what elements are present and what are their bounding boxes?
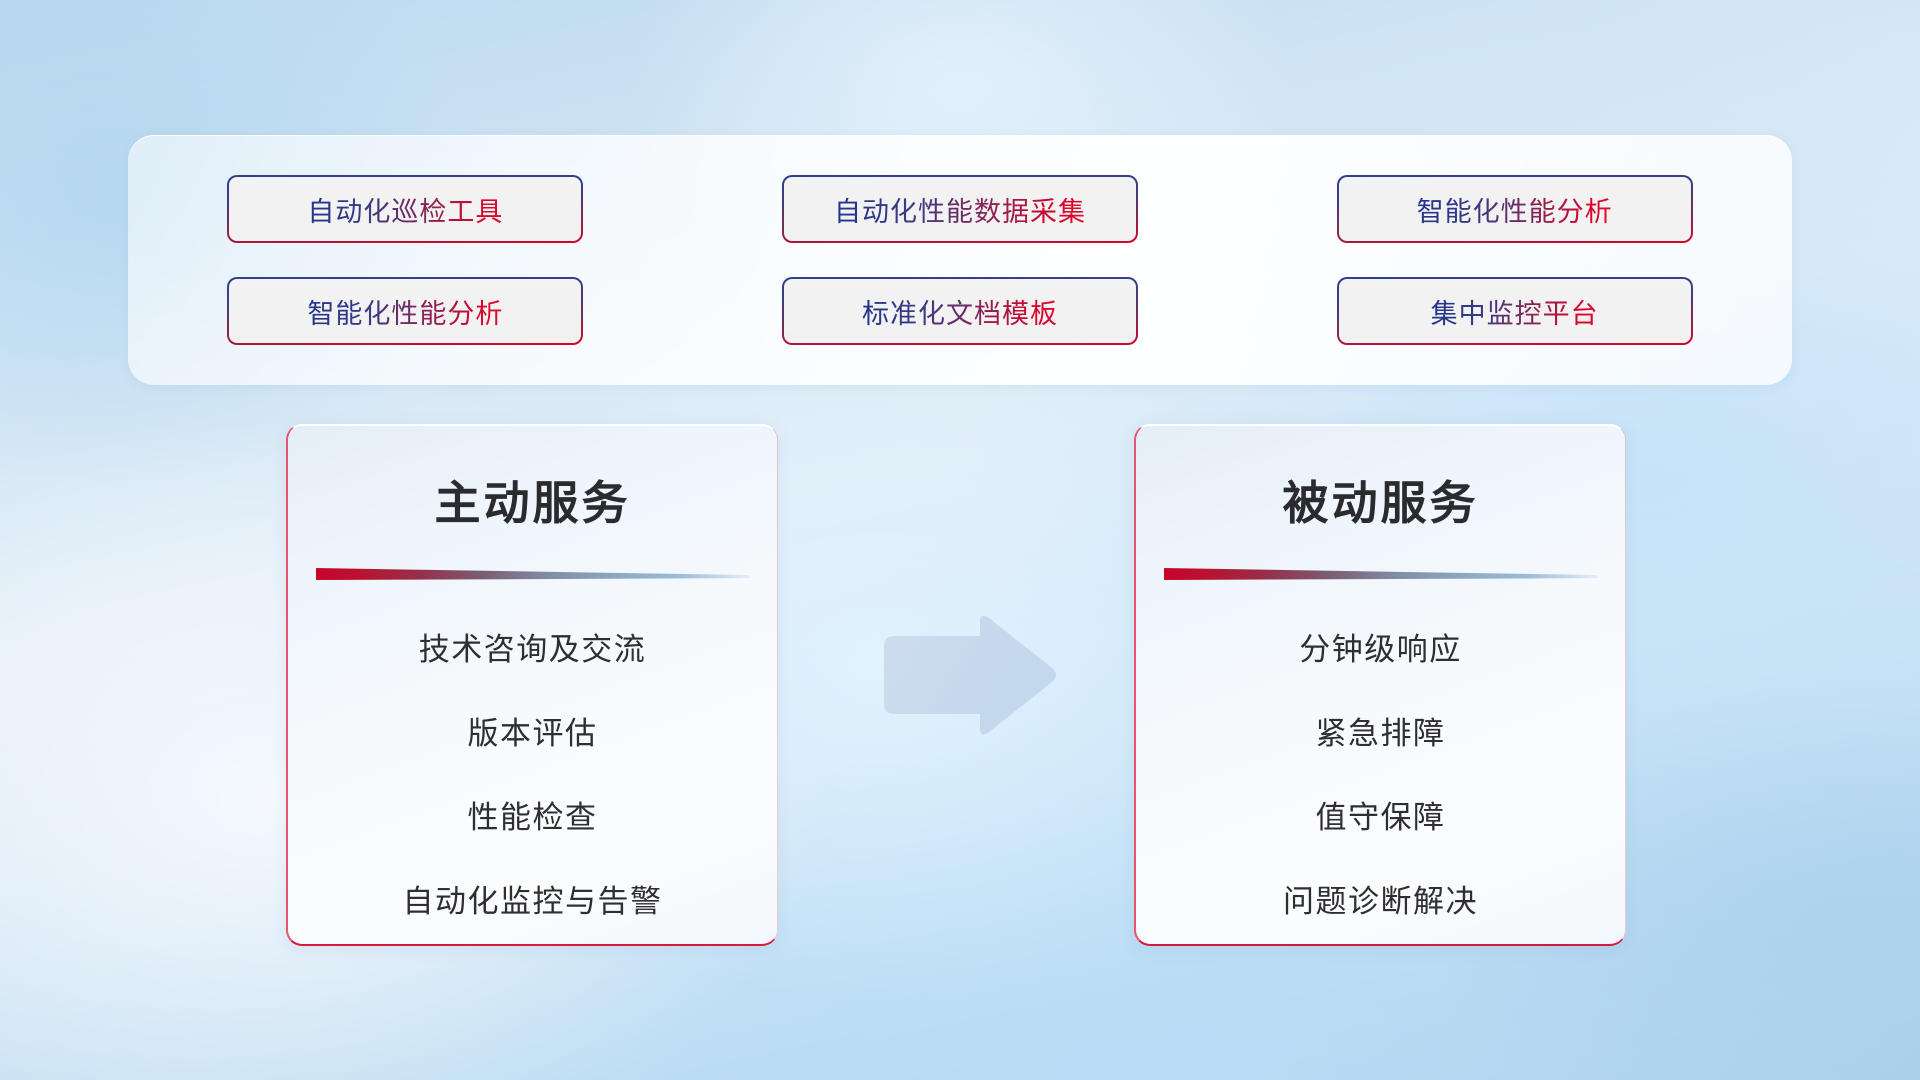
capability-pill-label: 集中监控平台 [1431, 292, 1599, 331]
list-item: 值守保障 [1316, 792, 1446, 837]
service-card-reactive[interactable]: 被动服务 分钟级响应 紧急排障 值守保障 问题诊断解决 SLA式服务 [1134, 424, 1626, 946]
capability-pill-intelligent-performance-analysis-top[interactable]: 智能化性能分析 [1337, 175, 1693, 243]
list-item: 版本评估 [468, 708, 598, 753]
capability-row-1: 自动化巡检工具 自动化性能数据采集 智能化性能分析 [128, 175, 1792, 243]
divider-wedge-icon [316, 567, 750, 580]
card-divider [316, 567, 750, 580]
capability-pill-label: 智能化性能分析 [1417, 190, 1613, 229]
card-divider [1164, 567, 1598, 580]
card-title: 主动服务 [288, 467, 777, 533]
service-card-proactive[interactable]: 主动服务 技术咨询及交流 版本评估 性能检查 自动化监控与告警 健康巡检 [286, 424, 778, 946]
capability-pill-automated-inspection-tool[interactable]: 自动化巡检工具 [227, 175, 583, 243]
capability-pill-label: 自动化性能数据采集 [834, 190, 1086, 229]
capability-panel: 自动化巡检工具 自动化性能数据采集 智能化性能分析 智能化性能分析 标准化文档模… [128, 135, 1792, 385]
service-list: 分钟级响应 紧急排障 值守保障 问题诊断解决 SLA式服务 [1136, 624, 1625, 946]
list-item: 自动化监控与告警 [403, 876, 663, 921]
arrow-right-icon [876, 612, 1060, 740]
list-item: 问题诊断解决 [1283, 876, 1478, 921]
service-list: 技术咨询及交流 版本评估 性能检查 自动化监控与告警 健康巡检 [288, 624, 777, 946]
slide-canvas: 自动化巡检工具 自动化性能数据采集 智能化性能分析 智能化性能分析 标准化文档模… [0, 0, 1920, 1080]
list-item: 紧急排障 [1316, 708, 1446, 753]
list-item: 技术咨询及交流 [419, 624, 647, 669]
capability-pill-label: 智能化性能分析 [307, 292, 503, 331]
card-title: 被动服务 [1136, 467, 1625, 533]
divider-wedge-icon [1164, 567, 1598, 580]
capability-pill-centralized-monitoring-platform[interactable]: 集中监控平台 [1337, 277, 1693, 345]
capability-pill-automated-performance-data-collection[interactable]: 自动化性能数据采集 [782, 175, 1138, 243]
list-item: 分钟级响应 [1299, 624, 1462, 669]
list-item: 性能检查 [468, 792, 598, 837]
capability-pill-label: 自动化巡检工具 [307, 190, 503, 229]
capability-row-2: 智能化性能分析 标准化文档模板 集中监控平台 [128, 277, 1792, 345]
capability-pill-label: 标准化文档模板 [862, 292, 1058, 331]
capability-pill-intelligent-performance-analysis-bottom[interactable]: 智能化性能分析 [227, 277, 583, 345]
capability-pill-standardized-document-template[interactable]: 标准化文档模板 [782, 277, 1138, 345]
